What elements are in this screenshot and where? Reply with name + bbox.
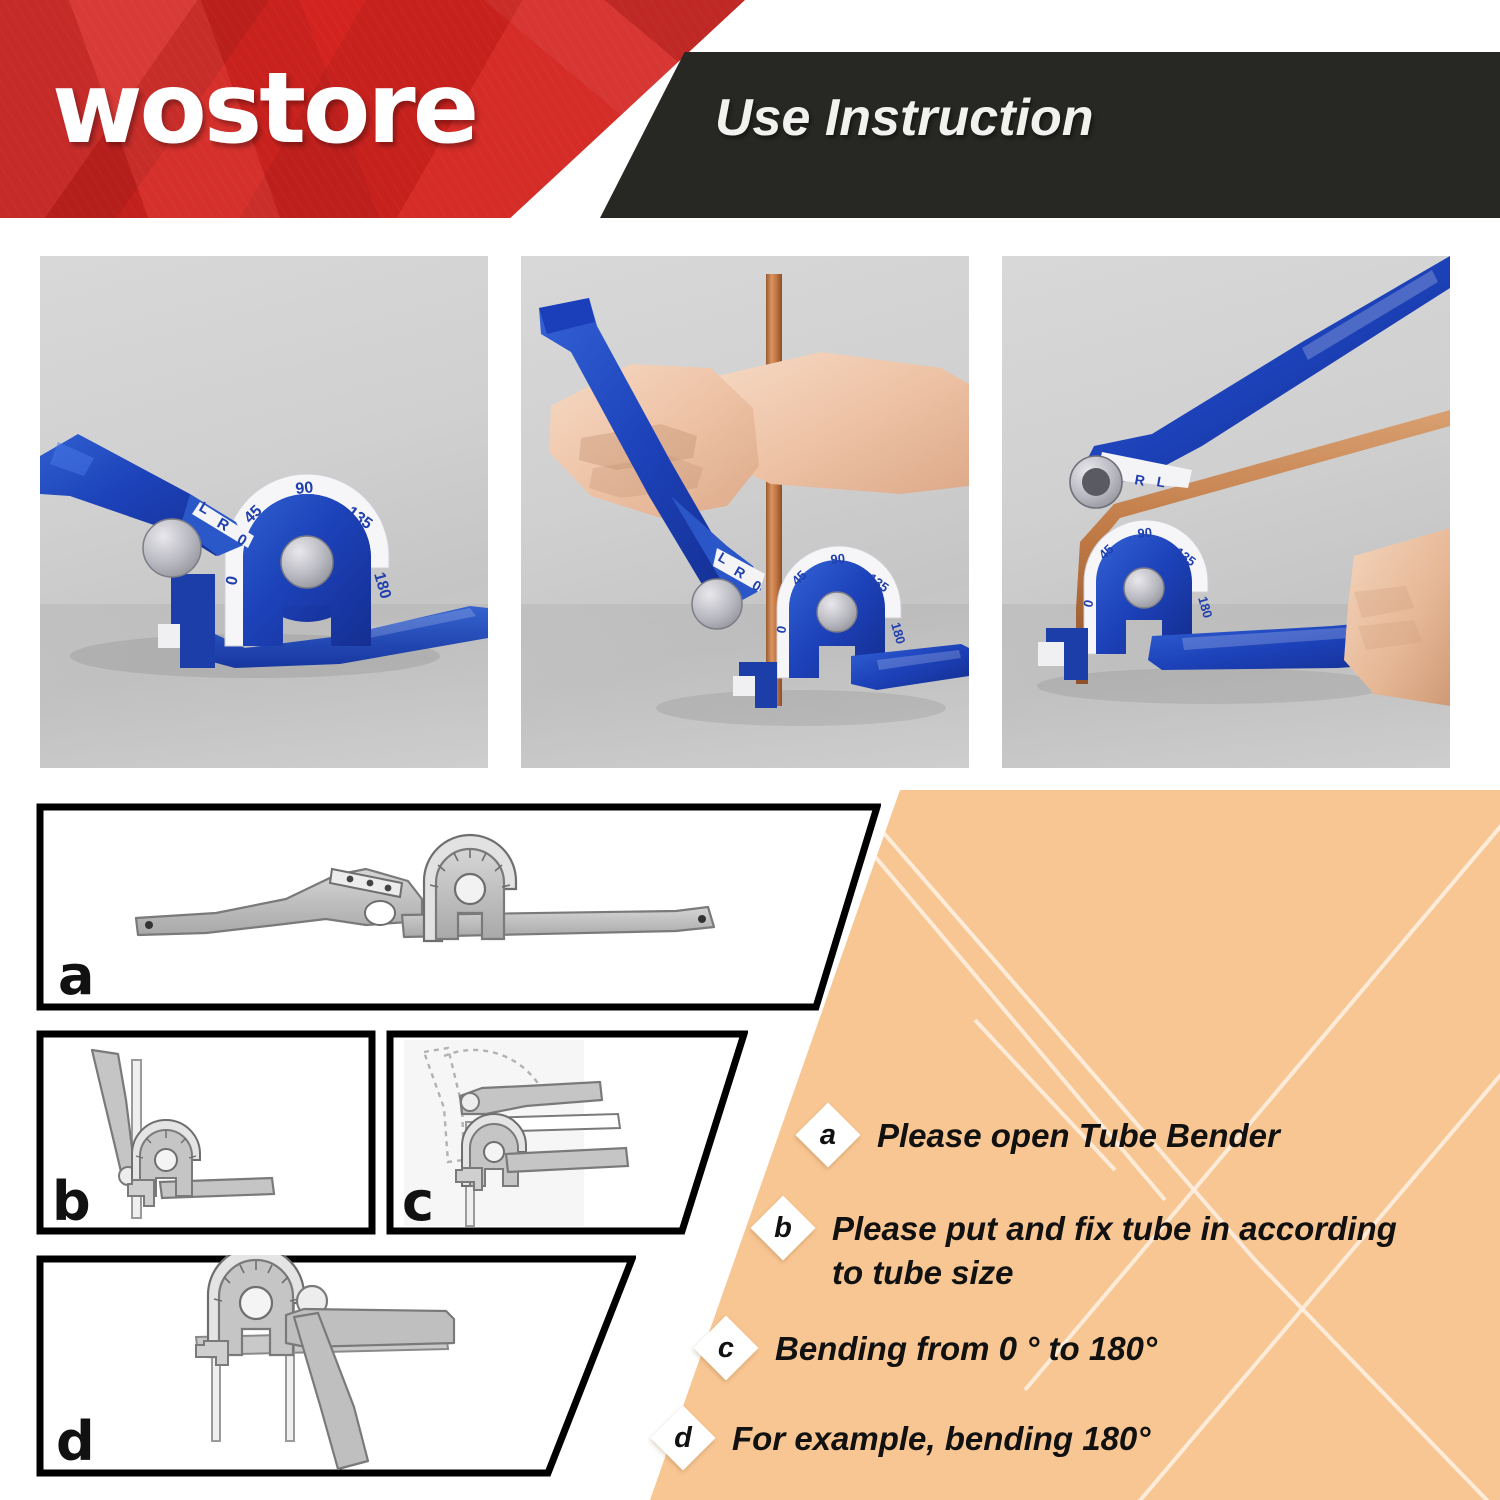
instruction-text-c: Bending from 0 ° to 180°: [775, 1327, 1157, 1371]
bender-illustration-1: 0 45 90 135 180 0 R L: [40, 256, 488, 768]
instructions-panel: a Please open Tube Bender b Please put a…: [555, 790, 1500, 1500]
brand-logo: wostore: [52, 60, 476, 158]
instruction-item-b: b Please put and fix tube in according t…: [760, 1205, 1397, 1295]
bender-illustration-3: 0 R L 0 45 90 135 180: [1002, 256, 1450, 768]
photo-hand-holding-bender-with-tube: 0 R L 0 45 90 135 180: [521, 256, 969, 768]
diagram-bent-180: d: [36, 1255, 636, 1477]
instruction-item-c: c Bending from 0 ° to 180°: [703, 1325, 1157, 1371]
svg-text:90: 90: [1137, 525, 1153, 541]
instruction-text-a: Please open Tube Bender: [877, 1114, 1280, 1158]
instruction-marker-a: a: [795, 1102, 860, 1167]
svg-text:L: L: [1155, 473, 1167, 490]
instruction-marker-c: c: [693, 1315, 758, 1380]
instruction-marker-b: b: [750, 1195, 815, 1260]
instruction-text-b: Please put and fix tube in according to …: [832, 1207, 1397, 1295]
page-title: Use Instruction: [715, 92, 1094, 144]
diagram-label-d: d: [56, 1415, 95, 1469]
photo-open-bender: 0 45 90 135 180 0 R L: [40, 256, 488, 768]
svg-text:90: 90: [830, 551, 846, 567]
instruction-item-a: a Please open Tube Bender: [805, 1112, 1280, 1158]
instruction-item-d: d For example, bending 180°: [660, 1415, 1150, 1461]
tool-line-art-d: [36, 1255, 636, 1477]
page-header: wostore Use Instruction: [0, 0, 1500, 232]
instruction-text-d: For example, bending 180°: [732, 1417, 1150, 1461]
diagram-insert-tube: b: [36, 1030, 376, 1235]
svg-text:90: 90: [295, 479, 315, 498]
instructions-list: a Please open Tube Bender b Please put a…: [555, 790, 1500, 1500]
svg-text:180: 180: [1195, 595, 1215, 620]
diagram-label-b: b: [52, 1175, 91, 1229]
diagram-label-c: c: [402, 1175, 434, 1229]
instruction-marker-d: d: [650, 1405, 715, 1470]
svg-text:180: 180: [370, 570, 394, 600]
svg-text:R: R: [1133, 471, 1146, 489]
bender-illustration-2: 0 R L 0 45 90 135 180: [521, 256, 969, 768]
svg-text:180: 180: [888, 621, 908, 646]
photo-bending-tube: 0 R L 0 45 90 135 180: [1002, 256, 1450, 768]
diagram-label-a: a: [58, 949, 94, 1003]
